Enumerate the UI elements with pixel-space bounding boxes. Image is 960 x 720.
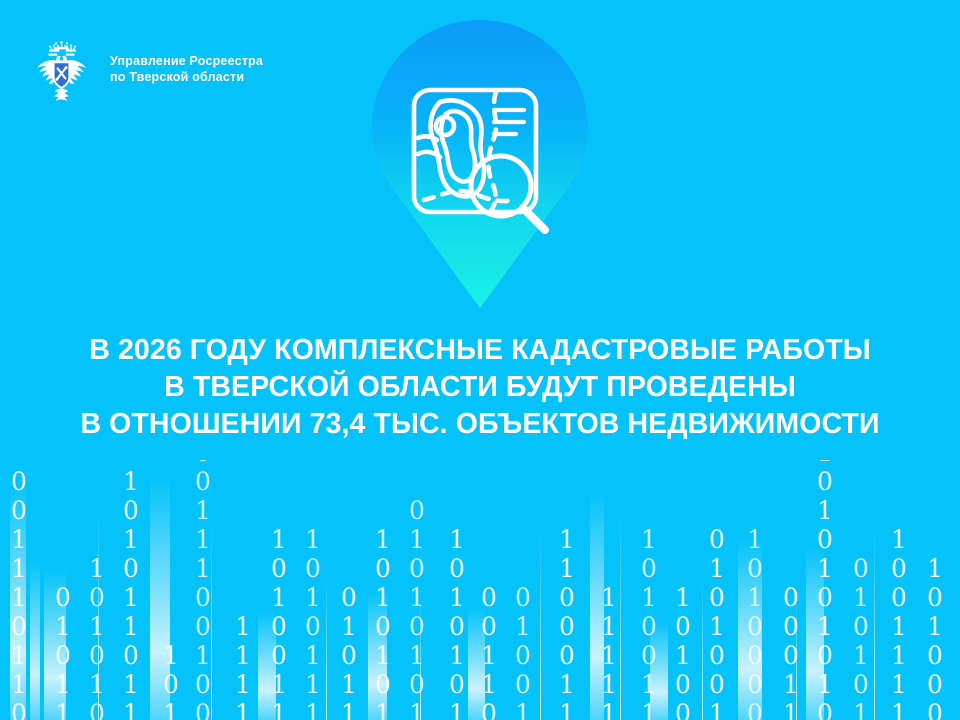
binary-column: 1 0 1 0 1 1 1: [302, 525, 324, 720]
binary-column: 1 1 0 0 0 1 1: [556, 525, 578, 720]
thin-rule: [98, 512, 99, 720]
map-pin-graphic: [346, 14, 614, 314]
binary-column: 1 0 1 0 1 0 1: [372, 525, 394, 720]
glow-bar: [258, 612, 276, 720]
thin-rule: [702, 582, 703, 720]
thin-rule: [874, 530, 875, 720]
binary-column: 1 0 1: [160, 641, 182, 720]
binary-column: 1 0 1 0 0 0 0: [744, 525, 766, 720]
binary-column: 0 0 1 1 1 0 1 1 0: [8, 467, 30, 720]
glow-bar: [368, 592, 387, 720]
glow-bar: [468, 608, 485, 720]
thin-rule: [326, 578, 327, 720]
thin-rule: [796, 594, 797, 720]
logo-text-block: Управление Росреестра по Тверской област…: [110, 53, 263, 85]
binary-column: 1 1 1 1: [232, 612, 254, 720]
binary-column: 0 0 1 1 0: [478, 583, 500, 720]
page-title: В 2026 ГОДУ КОМПЛЕКСНЫЕ КАДАСТРОВЫЕ РАБО…: [0, 332, 960, 443]
binary-column: 1 0 1 0 1 0: [86, 554, 108, 720]
thin-rule: [211, 524, 212, 720]
binary-column: 0 1 0 0 1: [512, 583, 534, 720]
binary-column: 1 0 1 0 0 0: [924, 554, 946, 720]
glow-bar: [30, 560, 40, 720]
binary-column: 1 0 0 1 1 1 1: [888, 525, 910, 720]
binary-decoration-band: 0 0 1 1 1 0 1 1 00 1 0 1 11 0 1 0 1 01 0…: [0, 460, 960, 720]
binary-column: 1 0 1 0 0 1 1: [268, 525, 290, 720]
glow-bar: [650, 622, 668, 720]
binary-column: 1 0 1 0 1 1 0 1 1: [120, 467, 142, 720]
thin-rule: [620, 518, 621, 720]
headline-line-1: В 2026 ГОДУ КОМПЛЕКСНЫЕ КАДАСТРОВЫЕ РАБО…: [14, 332, 946, 369]
binary-column: 1 0 1 0 1 0 1: [446, 525, 468, 720]
binary-column: 0 1 0 1 1: [338, 583, 360, 720]
binary-column: 0 1 0 1 0 1 0 1 0 1 0: [814, 460, 836, 720]
binary-column: 0 0 1 1 1 0 0 1 0 0: [192, 460, 214, 720]
binary-column: 0 1 0 1 0 1 0 1: [406, 496, 428, 720]
binary-column: 0 1 0 1 0 1: [850, 554, 872, 720]
glow-bar: [590, 494, 604, 720]
headline-line-2: В ТВЕРСКОЙ ОБЛАСТИ БУДУТ ПРОВЕДЕНЫ: [14, 369, 946, 406]
glow-bar: [44, 570, 66, 720]
poster-canvas: 0 0 1 1 1 0 1 1 00 1 0 1 11 0 1 0 1 01 0…: [0, 0, 960, 720]
logo-line-1: Управление Росреестра: [110, 53, 263, 69]
headline-line-3: В ОТНОШЕНИИ 73,4 ТЫС. ОБЪЕКТОВ НЕДВИЖИМО…: [14, 406, 946, 443]
binary-column: 0 0 0 1 1: [780, 583, 802, 720]
glow-bar: [806, 548, 824, 720]
binary-column: 0 1 0 1 1: [52, 583, 74, 720]
binary-column: 1 1 1 1 1: [598, 583, 620, 720]
binary-column: 1 0 1 0 0 1 1: [638, 525, 660, 720]
logo-line-2: по Тверской области: [110, 69, 263, 85]
thin-rule: [540, 534, 541, 720]
binary-column: 1 0 1 0 0: [672, 583, 694, 720]
rosreestr-double-headed-eagle-emblem-icon: [28, 36, 100, 102]
thin-rule: [420, 600, 421, 720]
rosreestr-logo: Управление Росреестра по Тверской област…: [28, 36, 263, 102]
glow-bar: [150, 478, 170, 720]
glow-bar: [10, 482, 26, 720]
glow-bar: [738, 540, 762, 720]
binary-column: 0 1 0 1 0 0 1: [706, 525, 728, 720]
